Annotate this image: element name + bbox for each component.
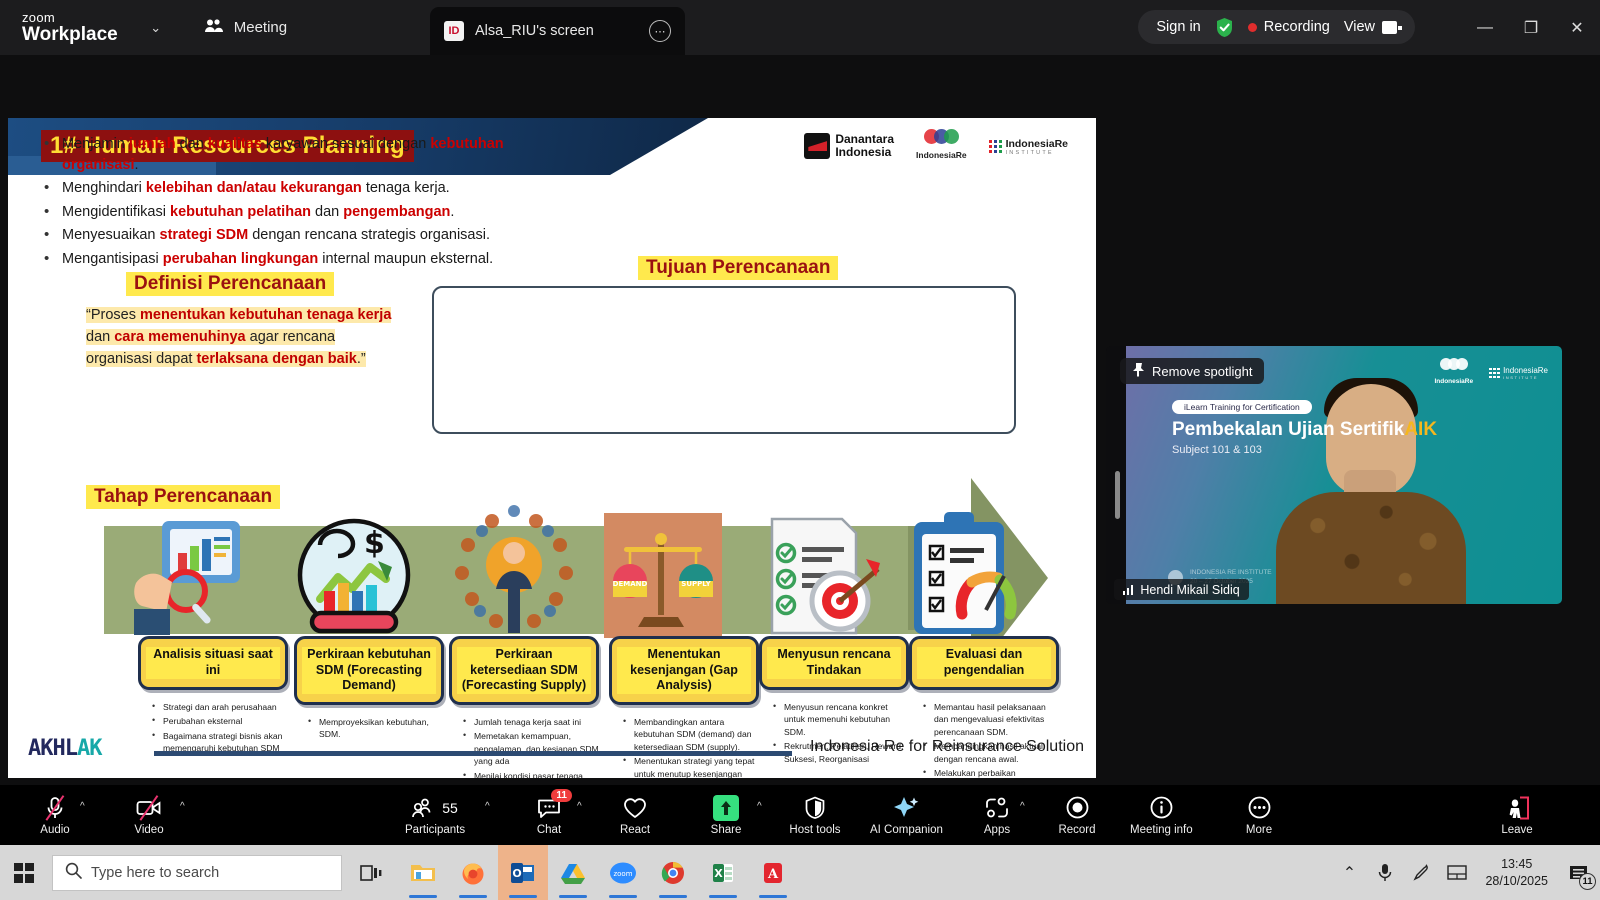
svg-text:zoom: zoom xyxy=(613,870,632,878)
video-rings-icon xyxy=(1434,358,1473,370)
audio-options-chevron-icon[interactable]: ^ xyxy=(80,801,85,812)
info-icon xyxy=(1150,795,1173,821)
share-label: Share xyxy=(711,824,742,836)
video-brand-logos: IndonesiaRe IndonesiaRe INSTITUTE xyxy=(1434,358,1548,388)
chat-options-chevron-icon[interactable]: ^ xyxy=(577,801,582,812)
svg-text:O: O xyxy=(512,867,521,880)
video-feed: IndonesiaRe IndonesiaRe INSTITUTE iLearn… xyxy=(1126,346,1562,604)
share-screen-button[interactable]: Share xyxy=(699,785,753,845)
checklist-target-icon xyxy=(754,513,884,643)
step-card[interactable]: Perkiraan ketersediaan SDM (Forecasting … xyxy=(449,636,599,705)
quote-bold-3: terlaksana dengan baik xyxy=(196,351,356,367)
presenter-batik-shirt xyxy=(1276,492,1466,604)
indonesia-re-rings-icon xyxy=(916,129,967,144)
quote-bold-1: menentukan kebutuhan tenaga kerja xyxy=(140,307,391,323)
akhlak-part2: AK xyxy=(77,736,102,761)
ai-companion-button[interactable]: AI Companion xyxy=(870,785,943,845)
microphone-muted-icon xyxy=(44,795,66,821)
chat-icon: 11 xyxy=(537,795,561,821)
recording-indicator[interactable]: Recording xyxy=(1248,19,1330,35)
more-dots-icon xyxy=(1248,795,1271,821)
tray-expand-chevron-icon[interactable]: ⌃ xyxy=(1331,845,1367,900)
video-button[interactable]: Video xyxy=(122,785,176,845)
window-controls: — ❐ ✕ xyxy=(1462,0,1600,55)
host-tools-button[interactable]: Host tools xyxy=(788,785,842,845)
close-button[interactable]: ✕ xyxy=(1554,0,1600,55)
demand-supply-scale-icon: DEMAND SUPPLY xyxy=(604,513,722,643)
layout-view-icon xyxy=(1382,21,1397,34)
goals-heading: Tujuan Perencanaan xyxy=(638,256,838,280)
video-headline: Pembekalan Ujian SertifikAIK xyxy=(1172,419,1437,441)
speaker-video-panel[interactable]: IndonesiaRe IndonesiaRe INSTITUTE iLearn… xyxy=(1106,346,1562,604)
sparkle-ai-icon xyxy=(893,795,919,821)
step-title: Evaluasi dan pengendalian xyxy=(917,647,1051,678)
svg-text:$: $ xyxy=(364,526,385,561)
chat-unread-badge: 11 xyxy=(551,789,572,802)
video-ire-label: IndonesiaRe xyxy=(1434,378,1473,385)
clock-date: 28/10/2025 xyxy=(1485,873,1548,890)
more-button[interactable]: More xyxy=(1232,785,1286,845)
leave-meeting-icon xyxy=(1504,795,1530,821)
chevron-down-icon[interactable]: ⌄ xyxy=(146,20,166,36)
recording-dot-icon xyxy=(1248,23,1257,32)
clock-time: 13:45 xyxy=(1501,856,1532,873)
akhlak-part1: AKHL xyxy=(28,736,77,761)
remove-spotlight-button[interactable]: Remove spotlight xyxy=(1120,358,1264,384)
indonesia-re-label: IndonesiaRe xyxy=(916,150,967,160)
record-button[interactable]: Record xyxy=(1050,785,1104,845)
pin-icon xyxy=(1132,362,1145,380)
video-footer-line1: INDONESIA RE INSTITUTE xyxy=(1190,569,1272,577)
footer-tagline: Indonesia Re for Reinsurance Solution xyxy=(810,738,1084,756)
apps-options-chevron-icon[interactable]: ^ xyxy=(1020,801,1025,812)
camera-muted-icon xyxy=(136,795,162,821)
clipboard-gauge-icon xyxy=(904,510,1024,643)
slide-logo-group: Danantara Indonesia IndonesiaRe xyxy=(804,129,1068,163)
chat-label: Chat xyxy=(537,824,561,836)
participants-count: 55 xyxy=(442,800,458,816)
participant-name: Hendi Mikail Sidiq xyxy=(1140,583,1239,597)
video-course-badge: iLearn Training for Certification xyxy=(1172,400,1312,414)
participant-name-pill: Hendi Mikail Sidiq xyxy=(1114,579,1249,600)
akhlak-logo: AKHLAK xyxy=(28,736,101,761)
danantara-logo: Danantara Indonesia xyxy=(804,133,894,159)
goal-item: Menyesuaikan strategi SDM dengan rencana… xyxy=(42,225,582,246)
host-tools-label: Host tools xyxy=(789,824,840,836)
video-institute-logo: IndonesiaRe INSTITUTE xyxy=(1489,366,1548,380)
participants-label: Participants xyxy=(405,824,465,836)
remove-spotlight-label: Remove spotlight xyxy=(1152,364,1252,379)
video-dots-icon xyxy=(1489,368,1500,379)
shared-screen-area: 1# Human Resources Planning Danantara In… xyxy=(0,55,1600,785)
meeting-tab-label: Meeting xyxy=(234,19,287,36)
video-options-chevron-icon[interactable]: ^ xyxy=(180,801,185,812)
meeting-tab[interactable]: Meeting xyxy=(204,18,287,38)
quote-mid-1: dan xyxy=(86,329,114,345)
talent-pool-icon xyxy=(444,503,584,643)
search-icon xyxy=(65,862,82,884)
file-explorer-icon[interactable] xyxy=(398,845,448,900)
shared-screen-tab-label: Alsa_RIU's screen xyxy=(475,23,594,39)
adobe-acrobat-icon[interactable]: A xyxy=(748,845,798,900)
definition-quote: “Proses menentukan kebutuhan tenaga kerj… xyxy=(86,304,396,370)
firefox-icon[interactable] xyxy=(448,845,498,900)
goal-item: Mengantisipasi perubahan lingkungan inte… xyxy=(42,249,582,270)
shared-screen-tab[interactable]: ID Alsa_RIU's screen ⋯ xyxy=(430,7,685,55)
goal-item: Mengidentifikasi kebutuhan pelatihan dan… xyxy=(42,202,582,223)
apps-button[interactable]: Apps xyxy=(970,785,1024,845)
view-label: View xyxy=(1344,19,1375,35)
taskbar-clock[interactable]: 13:45 28/10/2025 xyxy=(1475,856,1558,890)
video-scroll-handle[interactable] xyxy=(1115,471,1120,519)
step-title: Perkiraan ketersediaan SDM (Forecasting … xyxy=(457,647,591,694)
process-step: Perkiraan kebutuhan SDM (Forecasting Dem… xyxy=(294,636,444,743)
system-tray: ⌃ 13:45 28/10/2025 11 xyxy=(1331,845,1600,900)
zoom-icon[interactable]: zoom xyxy=(598,845,648,900)
recording-label: Recording xyxy=(1264,19,1330,35)
step-card[interactable]: Menentukan kesenjangan (Gap Analysis) xyxy=(609,636,759,705)
demand-label: DEMAND xyxy=(613,580,648,588)
participants-icon: 55 xyxy=(412,795,458,821)
definition-heading: Definisi Perencanaan xyxy=(126,272,334,296)
zoom-meeting-toolbar: Audio ^ Video ^ 55 Participants ^ 11 Cha… xyxy=(0,785,1600,845)
view-button[interactable]: View xyxy=(1344,19,1397,35)
danantara-mark-icon xyxy=(804,133,830,159)
quote-close: .” xyxy=(357,351,366,367)
outlook-icon[interactable]: O xyxy=(498,845,548,900)
tray-touchpad-icon[interactable] xyxy=(1439,845,1475,900)
task-view-icon[interactable] xyxy=(348,845,394,900)
presentation-slide: 1# Human Resources Planning Danantara In… xyxy=(8,118,1096,778)
zoom-workplace-logo: zoom Workplace xyxy=(22,11,118,44)
quote-open: “Proses xyxy=(86,307,140,323)
people-icon xyxy=(204,18,224,38)
notification-center-button[interactable]: 11 xyxy=(1558,845,1600,900)
excel-icon[interactable]: X xyxy=(698,845,748,900)
step-bullet: Jumlah tenaga kerja saat ini xyxy=(463,716,599,728)
step-title: Perkiraan kebutuhan SDM (Forecasting Dem… xyxy=(302,647,436,694)
tab-more-options-icon[interactable]: ⋯ xyxy=(649,20,671,42)
apps-icon xyxy=(985,795,1009,821)
slide-footer: AKHLAK Indonesia Re for Reinsurance Solu… xyxy=(8,730,1096,778)
zoom-wordmark: zoom xyxy=(22,11,118,24)
search-placeholder: Type here to search xyxy=(91,865,219,881)
institute-name: IndonesiaRe xyxy=(1006,138,1068,150)
notification-count-badge: 11 xyxy=(1579,873,1596,890)
meeting-info-label: Meeting info xyxy=(1130,824,1193,836)
process-icon-strip: $ xyxy=(104,458,996,643)
goal-item: Menghindari kelebihan dan/atau kekuranga… xyxy=(42,178,582,199)
chrome-icon[interactable] xyxy=(648,845,698,900)
zoom-title-bar: zoom Workplace ⌄ Meeting ID Alsa_RIU's s… xyxy=(0,0,1600,55)
apps-label: Apps xyxy=(984,824,1010,836)
goals-box xyxy=(432,286,1016,434)
video-headline-accent: AIK xyxy=(1404,419,1437,440)
tray-pen-icon[interactable] xyxy=(1403,845,1439,900)
search-input[interactable]: Type here to search xyxy=(52,855,342,891)
step-title: Menyusun rencana Tindakan xyxy=(767,647,901,678)
step-card[interactable]: Menyusun rencana Tindakan xyxy=(759,636,909,690)
sign-in-button[interactable]: Sign in xyxy=(1156,19,1200,35)
step-card[interactable]: Analisis situasi saat ini xyxy=(138,636,288,690)
step-bullet: Perubahan eksternal xyxy=(152,715,288,727)
ai-companion-label: AI Companion xyxy=(870,824,943,836)
footer-divider xyxy=(154,751,792,756)
step-card[interactable]: Evaluasi dan pengendalian xyxy=(909,636,1059,690)
svg-text:A: A xyxy=(767,867,779,882)
svg-text:X: X xyxy=(714,867,723,880)
share-options-chevron-icon[interactable]: ^ xyxy=(757,801,762,812)
react-button[interactable]: React xyxy=(608,785,662,845)
heart-reaction-icon xyxy=(623,795,647,821)
audio-button[interactable]: Audio xyxy=(28,785,82,845)
shield-check-icon[interactable] xyxy=(1215,17,1234,38)
google-drive-icon[interactable] xyxy=(548,845,598,900)
institute-dots-icon xyxy=(989,140,1002,153)
step-bullet: Strategi dan arah perusahaan xyxy=(152,701,288,713)
step-card[interactable]: Perkiraan kebutuhan SDM (Forecasting Dem… xyxy=(294,636,444,705)
participants-button[interactable]: 55 Participants xyxy=(405,785,465,845)
dashboard-analysis-icon xyxy=(134,513,254,643)
video-institute-sub: INSTITUTE xyxy=(1503,375,1548,380)
taskbar-app-buttons: O zoom X A xyxy=(398,845,798,900)
tray-microphone-icon[interactable] xyxy=(1367,845,1403,900)
video-headline-main: Pembekalan Ujian Sertifik xyxy=(1172,419,1404,440)
video-label: Video xyxy=(134,824,163,836)
crystal-ball-forecast-icon: $ xyxy=(294,513,414,643)
shield-host-icon xyxy=(805,795,825,821)
indonesia-re-logo: IndonesiaRe xyxy=(916,129,967,163)
quote-bold-2: cara memenuhinya xyxy=(114,329,245,345)
leave-label: Leave xyxy=(1501,824,1532,836)
workplace-wordmark: Workplace xyxy=(22,25,118,44)
restore-button[interactable]: ❐ xyxy=(1508,0,1554,55)
indonesia-re-institute-logo: IndonesiaRe INSTITUTE xyxy=(989,135,1068,157)
react-label: React xyxy=(620,824,650,836)
windows-start-icon[interactable] xyxy=(0,845,48,900)
step-title: Analisis situasi saat ini xyxy=(146,647,280,678)
video-subtitle: Subject 101 & 103 xyxy=(1172,444,1262,456)
video-institute-name: IndonesiaRe xyxy=(1503,366,1548,375)
share-tab-favicon-icon: ID xyxy=(444,21,464,41)
audio-label: Audio xyxy=(40,824,69,836)
danantara-line2: Indonesia xyxy=(835,146,894,159)
audio-level-icon xyxy=(1123,584,1133,595)
chat-button[interactable]: 11 Chat xyxy=(522,785,576,845)
record-icon xyxy=(1066,795,1089,821)
more-label: More xyxy=(1246,824,1272,836)
participants-options-chevron-icon[interactable]: ^ xyxy=(485,801,490,812)
supply-label: SUPPLY xyxy=(681,580,711,588)
meeting-info-button[interactable]: Meeting info xyxy=(1130,785,1193,845)
goals-list: Menjamin jumlah dan kualitas karyawan se… xyxy=(42,134,582,272)
titlebar-right-cluster: Sign in Recording View xyxy=(1138,10,1415,44)
leave-button[interactable]: Leave xyxy=(1490,785,1544,845)
step-title: Menentukan kesenjangan (Gap Analysis) xyxy=(617,647,751,694)
institute-sub: INSTITUTE xyxy=(1006,151,1068,157)
share-screen-icon xyxy=(713,795,739,821)
minimize-button[interactable]: — xyxy=(1462,0,1508,55)
goal-item: Menjamin jumlah dan kualitas karyawan se… xyxy=(42,134,582,175)
windows-taskbar: Type here to search O zoom xyxy=(0,845,1600,900)
record-label: Record xyxy=(1058,824,1095,836)
video-indonesia-re-logo: IndonesiaRe xyxy=(1434,358,1473,388)
